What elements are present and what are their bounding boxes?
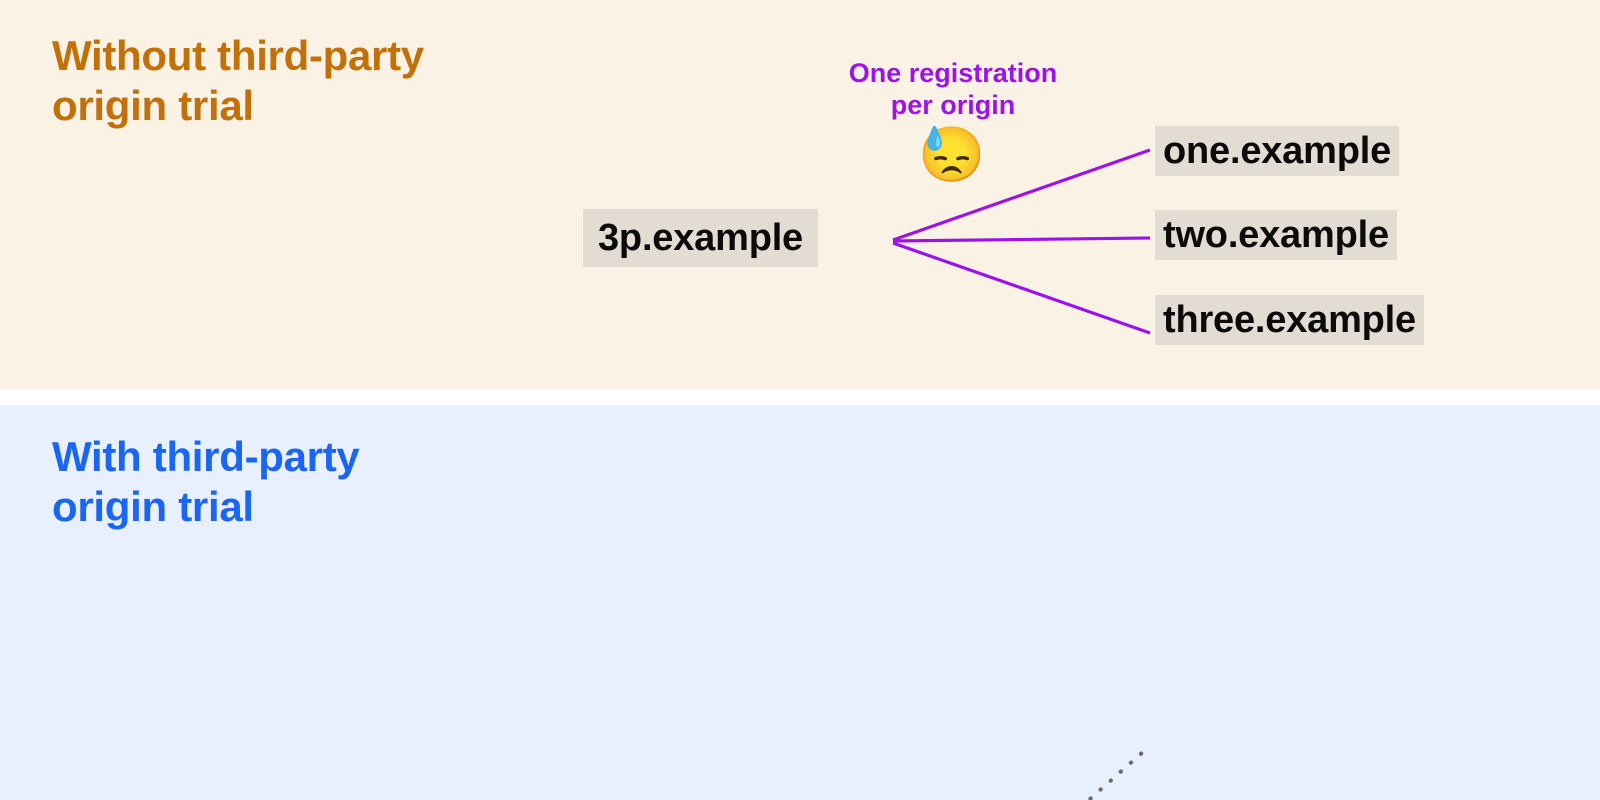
panel-heading-with-origin-trial: With third-party origin trial (52, 432, 359, 531)
edge-3p-to-two (893, 238, 1150, 241)
downcast-face-with-sweat-emoji: 😓 (918, 128, 985, 182)
panel-with-origin-trial: With third-party origin trial One regist… (0, 405, 1600, 800)
panel-without-origin-trial: Without third-party origin trial One reg… (0, 0, 1600, 389)
leaf-node-three-example-top: three.example (1155, 295, 1424, 345)
edge-3p-to-three (893, 243, 1150, 333)
leaf-node-one-example-top: one.example (1155, 126, 1399, 176)
leaf-node-two-example-top: two.example (1155, 210, 1397, 260)
edge-junction-to-one (1050, 748, 1148, 800)
diagram-canvas: Without third-party origin trial One reg… (0, 0, 1600, 800)
annotation-one-registration-per-origin: One registration per origin (790, 58, 1116, 122)
source-node-3p-example-top: 3p.example (583, 209, 818, 267)
panel-heading-without-origin-trial: Without third-party origin trial (52, 31, 424, 130)
